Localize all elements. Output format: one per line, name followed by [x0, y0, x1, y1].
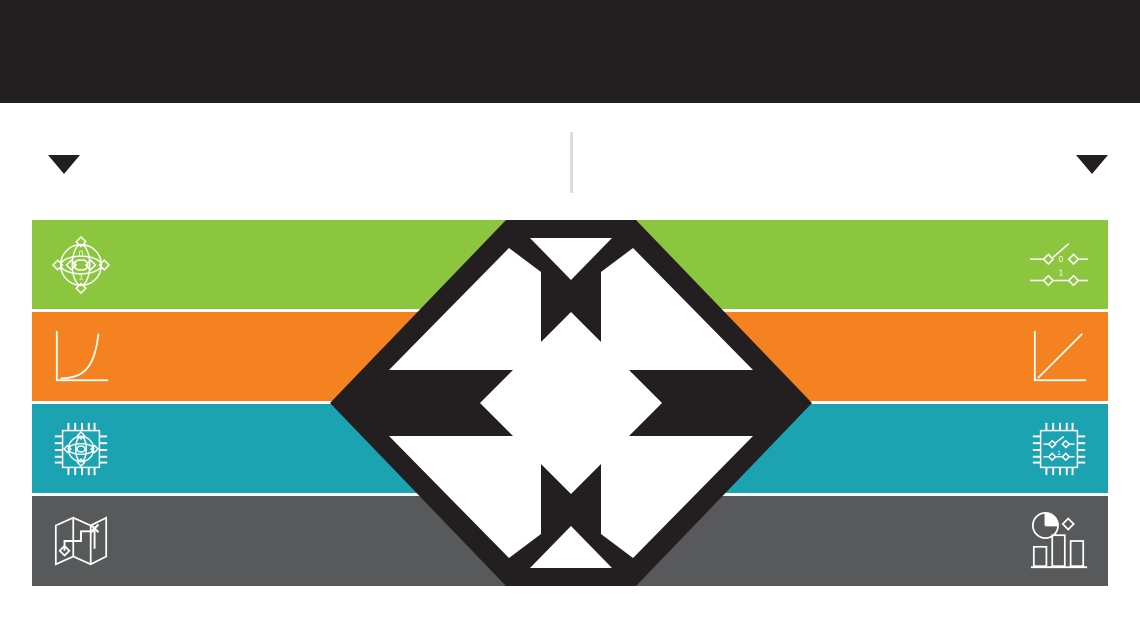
table-row [32, 312, 1108, 401]
column-headers [0, 103, 1140, 220]
exponential-curve-chart-icon [50, 326, 112, 388]
qubit-sphere-icon: 0 1 [50, 234, 112, 296]
pie-bar-chart-icon [1028, 510, 1090, 572]
title-bar [0, 0, 1140, 103]
table-row: 0 1 0 [32, 220, 1108, 309]
row-cell-quantum: 0 1 [32, 234, 452, 296]
svg-text:0: 0 [1059, 254, 1064, 264]
row-cell-quantum [32, 418, 452, 480]
svg-text:0: 0 [79, 248, 84, 258]
infographic-root: 0 1 0 [0, 0, 1140, 618]
svg-text:1: 1 [1059, 267, 1064, 277]
svg-text:1: 1 [79, 271, 84, 281]
quantum-chip-icon [50, 418, 112, 480]
column-header-classical [1060, 103, 1108, 220]
classical-chip-icon: 1 [1028, 418, 1090, 480]
column-header-quantum [32, 103, 80, 220]
chevron-down-icon [48, 155, 80, 174]
row-cell-quantum [32, 510, 452, 572]
table-row: 1 [32, 404, 1108, 493]
svg-text:1: 1 [1057, 449, 1061, 456]
row-cell-classical [688, 510, 1108, 572]
transistor-switch-icon: 0 1 [1028, 234, 1090, 296]
linear-line-chart-icon [1028, 326, 1090, 388]
row-cell-quantum [32, 326, 452, 388]
table-row [32, 496, 1108, 586]
row-cell-classical [688, 326, 1108, 388]
chevron-down-icon [1076, 155, 1108, 174]
route-map-icon [50, 510, 112, 572]
row-cell-classical: 1 [688, 418, 1108, 480]
comparison-rows: 0 1 0 [32, 220, 1108, 586]
row-cell-classical: 0 1 [688, 234, 1108, 296]
column-divider [570, 132, 573, 193]
